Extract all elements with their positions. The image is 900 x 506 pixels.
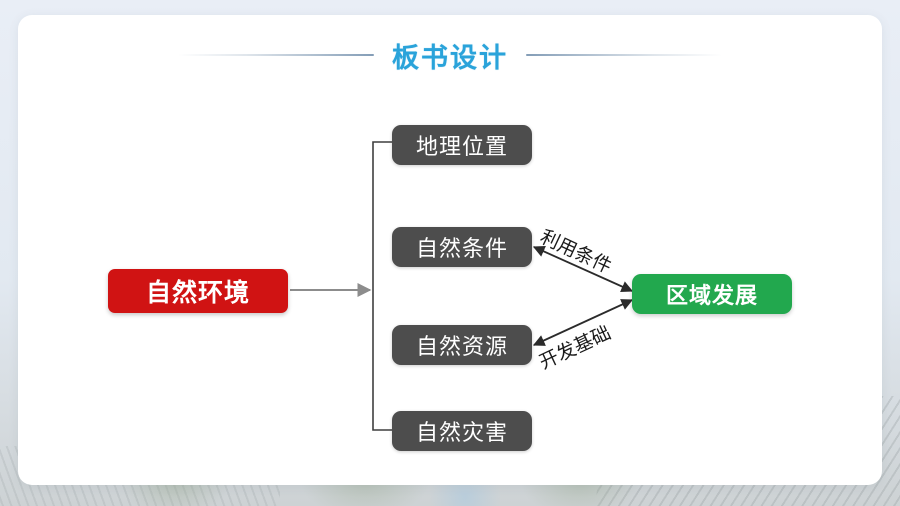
node-branch-natural-disasters[interactable]: 自然灾害 [392, 411, 532, 451]
node-root-natural-environment[interactable]: 自然环境 [108, 269, 288, 313]
node-branch-natural-conditions[interactable]: 自然条件 [392, 227, 532, 267]
node-goal-label: 区域发展 [666, 278, 758, 310]
slide: 板书设计 [0, 0, 900, 506]
node-root-label: 自然环境 [146, 273, 250, 309]
node-goal-regional-development[interactable]: 区域发展 [632, 274, 792, 314]
node-branch-label: 自然资源 [416, 329, 508, 361]
node-branch-label: 自然灾害 [416, 415, 508, 447]
node-branch-label: 自然条件 [416, 231, 508, 263]
diagram-canvas: 自然环境 地理位置 自然条件 自然资源 自然灾害 区域发展 利用条件 开发基础 [18, 15, 882, 485]
bracket-spine [373, 142, 392, 430]
node-branch-geographic-location[interactable]: 地理位置 [392, 125, 532, 165]
content-card: 板书设计 [18, 15, 882, 485]
node-branch-label: 地理位置 [416, 129, 508, 161]
node-branch-natural-resources[interactable]: 自然资源 [392, 325, 532, 365]
